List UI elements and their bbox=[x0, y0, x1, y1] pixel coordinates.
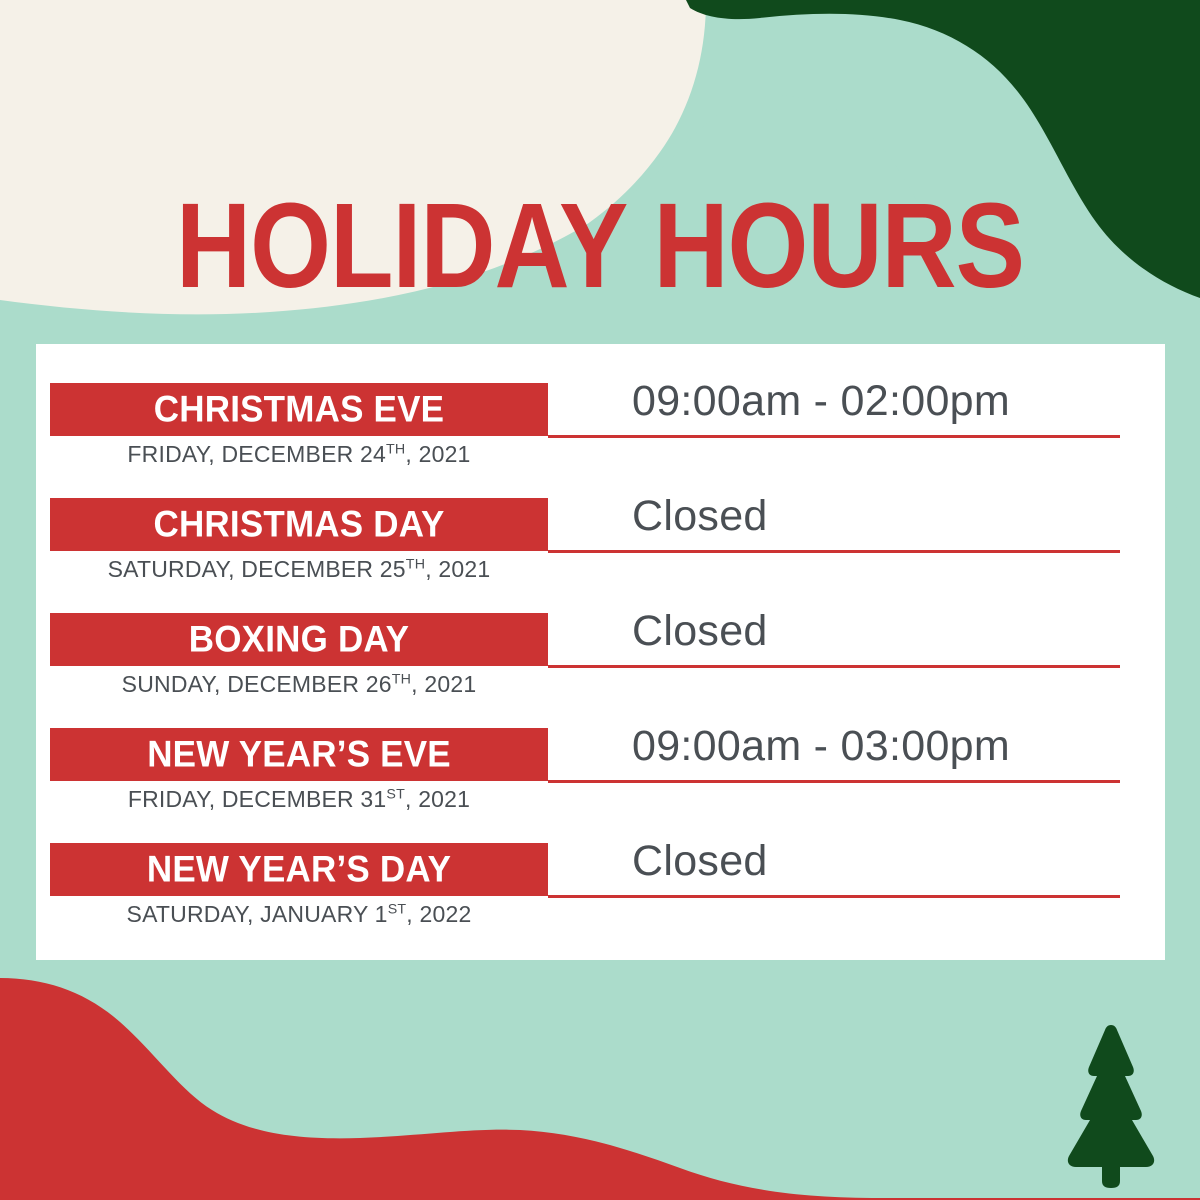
holiday-label-chip: CHRISTMAS EVE bbox=[50, 383, 548, 436]
date-prefix: SATURDAY, JANUARY 1 bbox=[127, 901, 388, 927]
holiday-name: NEW YEAR’S EVE bbox=[147, 736, 451, 773]
hours-value: Closed bbox=[632, 491, 768, 541]
holiday-name: CHRISTMAS DAY bbox=[153, 506, 444, 543]
hours-value: 09:00am - 02:00pm bbox=[632, 376, 1010, 426]
date-ordinal: TH bbox=[386, 441, 405, 457]
holiday-name: BOXING DAY bbox=[189, 621, 409, 658]
hours-value: 09:00am - 03:00pm bbox=[632, 721, 1010, 771]
hours-card: CHRISTMAS EVE FRIDAY, DECEMBER 24TH, 202… bbox=[36, 344, 1165, 960]
hours-value: Closed bbox=[632, 606, 768, 656]
holiday-date: SATURDAY, JANUARY 1ST, 2022 bbox=[50, 901, 548, 928]
hours-row: NEW YEAR’S DAY SATURDAY, JANUARY 1ST, 20… bbox=[36, 804, 1165, 919]
holiday-name: CHRISTMAS EVE bbox=[154, 391, 444, 428]
date-ordinal: TH bbox=[392, 671, 411, 687]
date-ordinal: ST bbox=[388, 901, 407, 917]
hours-underline bbox=[548, 780, 1120, 783]
hours-row: NEW YEAR’S EVE FRIDAY, DECEMBER 31ST, 20… bbox=[36, 689, 1165, 804]
christmas-tree-icon bbox=[1063, 1023, 1159, 1189]
hours-underline bbox=[548, 550, 1120, 553]
date-suffix: , 2022 bbox=[406, 901, 471, 927]
holiday-hours-poster: HOLIDAY HOURS CHRISTMAS EVE FRIDAY, DECE… bbox=[0, 0, 1200, 1200]
date-ordinal: ST bbox=[386, 786, 405, 802]
holiday-label-chip: NEW YEAR’S EVE bbox=[50, 728, 548, 781]
hours-underline bbox=[548, 665, 1120, 668]
hours-underline bbox=[548, 895, 1120, 898]
page-title: HOLIDAY HOURS bbox=[0, 186, 1200, 307]
hours-underline bbox=[548, 435, 1120, 438]
hours-row: BOXING DAY SUNDAY, DECEMBER 26TH, 2021 C… bbox=[36, 574, 1165, 689]
hours-value: Closed bbox=[632, 836, 768, 886]
date-ordinal: TH bbox=[406, 556, 425, 572]
holiday-name: NEW YEAR’S DAY bbox=[147, 851, 451, 888]
hours-row: CHRISTMAS EVE FRIDAY, DECEMBER 24TH, 202… bbox=[36, 344, 1165, 459]
hours-row: CHRISTMAS DAY SATURDAY, DECEMBER 25TH, 2… bbox=[36, 459, 1165, 574]
holiday-label-chip: CHRISTMAS DAY bbox=[50, 498, 548, 551]
holiday-label-chip: BOXING DAY bbox=[50, 613, 548, 666]
holiday-label-chip: NEW YEAR’S DAY bbox=[50, 843, 548, 896]
